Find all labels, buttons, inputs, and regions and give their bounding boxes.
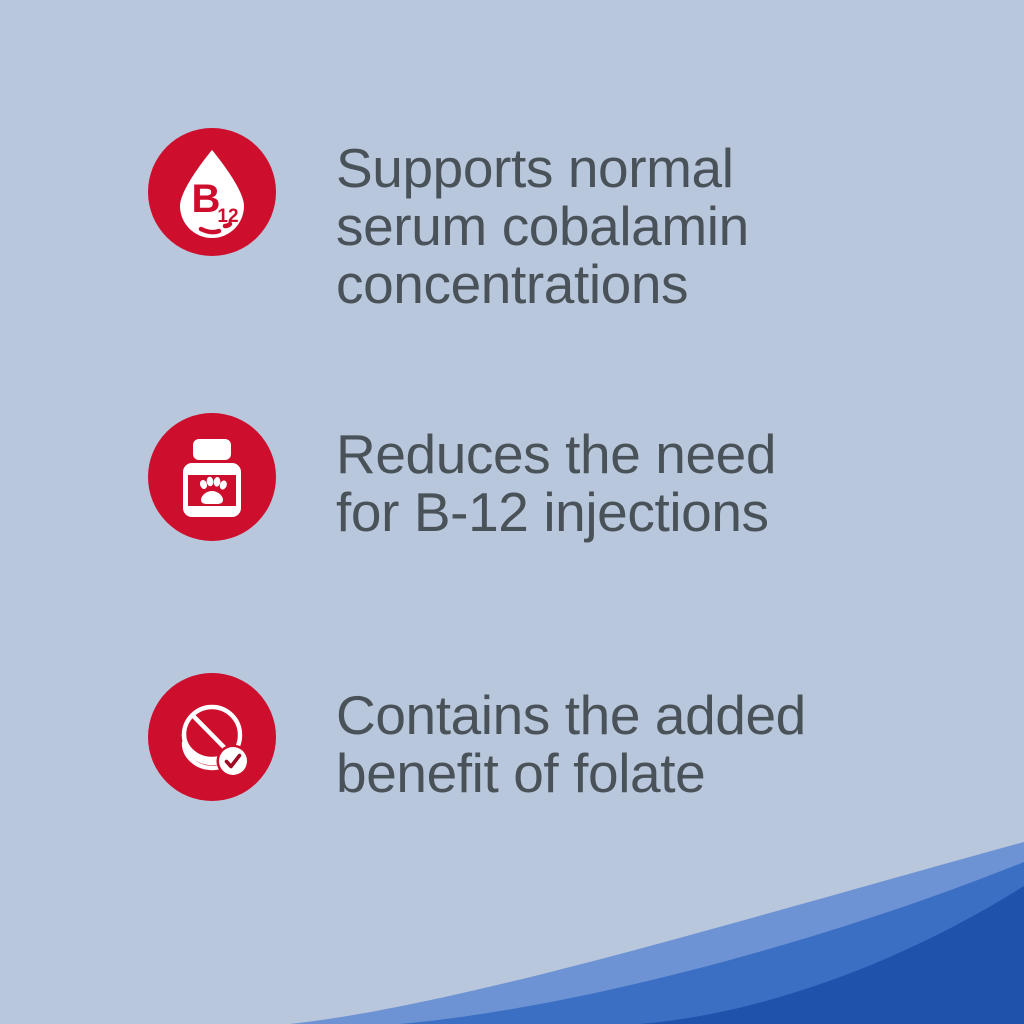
- benefit-item-injections: Reduces the need for B-12 injections: [148, 413, 776, 541]
- tablets-check-icon: [148, 673, 276, 801]
- benefit-text-cobalamin: Supports normal serum cobalamin concentr…: [336, 139, 749, 313]
- b12-letter-b: B: [192, 177, 221, 221]
- benefit-item-cobalamin: B 12 Supports normal serum cobalamin con…: [148, 128, 749, 313]
- benefits-poster: B 12 Supports normal serum cobalamin con…: [0, 0, 1024, 1024]
- blood-drop-b12-icon: B 12: [148, 128, 276, 256]
- pill-bottle-paw-icon: [148, 413, 276, 541]
- benefit-text-injections: Reduces the need for B-12 injections: [336, 425, 776, 541]
- benefit-list: B 12 Supports normal serum cobalamin con…: [0, 0, 1024, 1024]
- benefit-text-folate: Contains the added benefit of folate: [336, 686, 806, 802]
- benefit-item-folate: Contains the added benefit of folate: [148, 673, 806, 802]
